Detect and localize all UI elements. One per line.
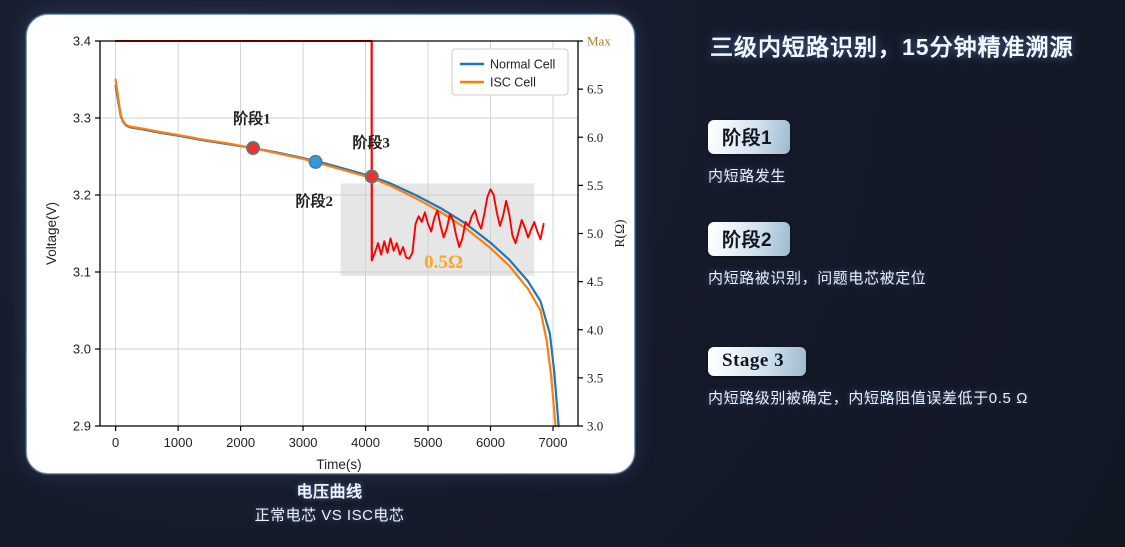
chart-plot-area: 2.93.03.13.23.33.43.03.54.04.55.05.56.06…	[27, 15, 634, 473]
resistance-error-annotation: 0.5Ω	[424, 252, 463, 273]
legend-label-1: Normal Cell	[490, 58, 555, 72]
voltage-chart-card: 2.93.03.13.23.33.43.03.54.04.55.05.56.06…	[26, 14, 635, 474]
y-axis-title-right: R(Ω)	[612, 219, 627, 247]
y-axis-title-left: Voltage(V)	[44, 202, 59, 265]
y-tick-label-right: 4.5	[587, 274, 603, 289]
stage-badge-2: 阶段2	[708, 222, 790, 256]
y-tick-label-left: 3.4	[73, 34, 91, 49]
y-tick-label-right: 6.0	[587, 130, 603, 145]
y-tick-label-left: 3.0	[73, 342, 91, 357]
stage-block-3: Stage 3 内短路级别被确定，内短路阻值误差低于0.5 Ω	[708, 347, 1118, 408]
stage-annotation-2: 阶段2	[296, 192, 334, 210]
y-tick-label-right: 3.0	[587, 419, 603, 434]
stage-annotation-1: 阶段1	[233, 109, 271, 127]
y-tick-label-right: 3.5	[587, 370, 603, 385]
stage-desc-1: 内短路发生	[708, 165, 1118, 186]
y-tick-label-left: 3.1	[73, 265, 91, 280]
x-axis-title: Time(s)	[316, 457, 361, 472]
y-tick-label-right: 4.0	[587, 322, 603, 337]
y-tick-label-right: Max	[587, 34, 611, 49]
stage-block-1: 阶段1 内短路发生	[708, 120, 1118, 186]
y-tick-label-left: 3.2	[73, 188, 91, 203]
stage-desc-2: 内短路被识别，问题电芯被定位	[708, 267, 1118, 288]
headline: 三级内短路识别，15分钟精准溯源	[710, 28, 1125, 62]
stage-marker-2	[309, 156, 321, 168]
x-tick-label: 6000	[476, 435, 505, 450]
stage-annotation-3: 阶段3	[352, 133, 390, 151]
x-tick-label: 1000	[164, 435, 193, 450]
y-tick-label-left: 2.9	[73, 419, 91, 434]
y-tick-label-left: 3.3	[73, 111, 91, 126]
voltage-curve-chart: 2.93.03.13.23.33.43.03.54.04.55.05.56.06…	[27, 15, 634, 473]
y-tick-label-right: 5.5	[587, 178, 603, 193]
x-tick-label: 7000	[539, 435, 568, 450]
right-panel: 三级内短路识别，15分钟精准溯源 阶段1 内短路发生 阶段2 内短路被识别，问题…	[700, 0, 1120, 547]
legend-label-2: ISC Cell	[490, 76, 536, 90]
poster-root: 2.93.03.13.23.33.43.03.54.04.55.05.56.06…	[0, 0, 1125, 547]
caption-subtitle: 正常电芯 VS ISC电芯	[26, 504, 633, 528]
x-tick-label: 2000	[226, 435, 255, 450]
chart-caption: 电压曲线 正常电芯 VS ISC电芯	[26, 482, 633, 528]
x-tick-label: 0	[112, 435, 119, 450]
caption-title: 电压曲线	[26, 482, 633, 504]
y-tick-label-right: 5.0	[587, 226, 603, 241]
stage-block-2: 阶段2 内短路被识别，问题电芯被定位	[708, 222, 1118, 288]
stage-marker-3	[366, 170, 378, 182]
stage-badge-3: Stage 3	[708, 347, 806, 376]
y-tick-label-right: 6.5	[587, 82, 603, 97]
x-tick-label: 4000	[351, 435, 380, 450]
stage-marker-1	[247, 142, 259, 154]
x-tick-label: 3000	[289, 435, 318, 450]
stage-desc-3: 内短路级别被确定，内短路阻值误差低于0.5 Ω	[708, 387, 1118, 408]
x-tick-label: 5000	[414, 435, 443, 450]
stage-badge-1: 阶段1	[708, 120, 790, 154]
